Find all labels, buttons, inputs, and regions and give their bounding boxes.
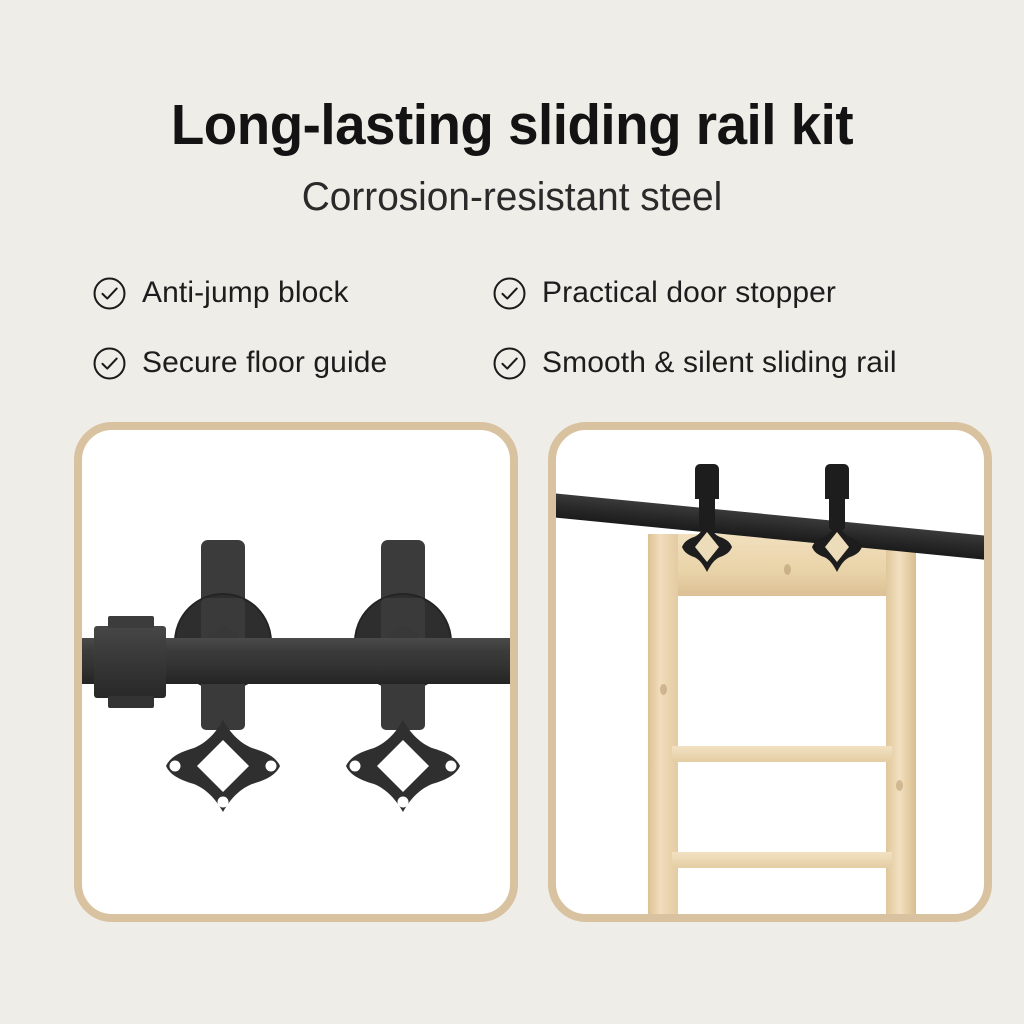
feature-item-practical-door-stopper: Practical door stopper (492, 276, 952, 311)
circle-check-icon (92, 276, 127, 311)
roller-hanger (808, 464, 866, 596)
door-middle-rail (672, 746, 892, 762)
feature-item-smooth-silent-sliding-rail: Smooth & silent sliding rail (492, 346, 952, 381)
wood-knot (896, 780, 903, 791)
feature-label: Smooth & silent sliding rail (542, 346, 897, 380)
feature-list: Anti-jump block Practical door stopper S… (92, 258, 952, 398)
roller-hanger (328, 538, 478, 838)
wood-knot (660, 684, 667, 695)
circle-check-icon (92, 346, 127, 381)
roller-hanger (678, 464, 736, 596)
wood-knot (784, 564, 791, 575)
circle-check-icon (492, 276, 527, 311)
roller-hanger (148, 538, 298, 838)
page-title: Long-lasting sliding rail kit (20, 96, 1003, 155)
door-lower-rail (672, 852, 892, 868)
product-image-card-installed (548, 422, 992, 922)
product-image-card-hardware (74, 422, 518, 922)
circle-check-icon (492, 346, 527, 381)
feature-label: Practical door stopper (542, 276, 836, 310)
feature-item-anti-jump-block: Anti-jump block (92, 276, 492, 311)
page-subtitle: Corrosion-resistant steel (15, 175, 1008, 219)
anti-jump-block (94, 626, 166, 698)
feature-label: Anti-jump block (142, 276, 349, 310)
feature-label: Secure floor guide (142, 346, 387, 380)
feature-item-secure-floor-guide: Secure floor guide (92, 346, 492, 381)
